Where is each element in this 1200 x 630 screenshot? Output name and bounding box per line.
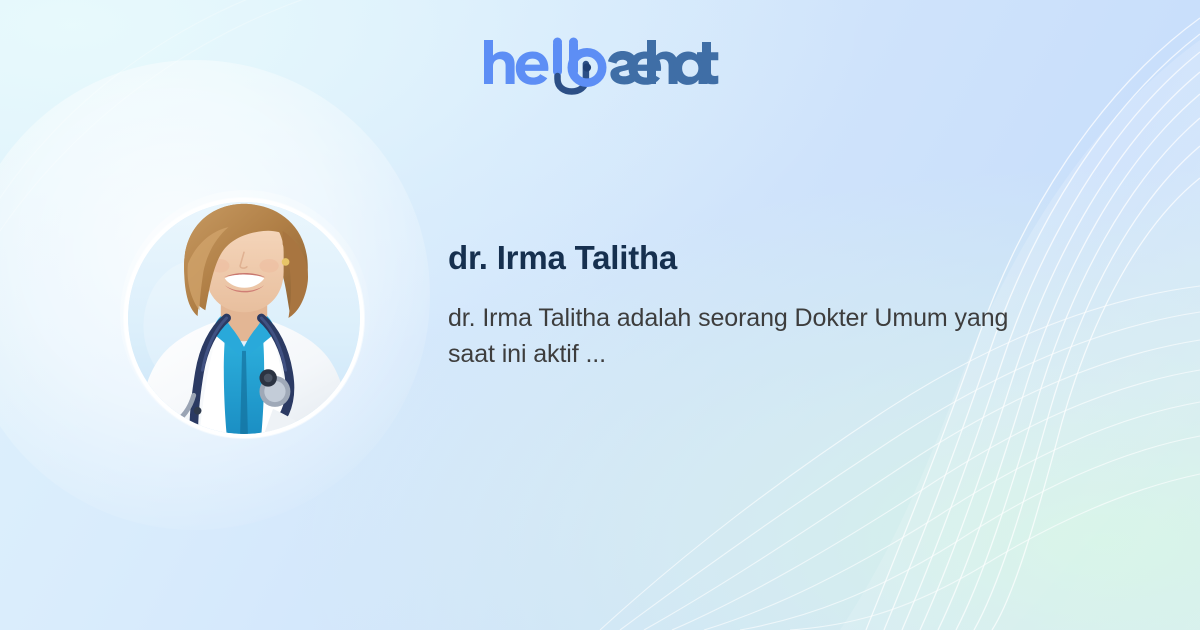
hellosehat-logo-icon [481, 36, 719, 98]
page-title: dr. Irma Talitha [448, 238, 1068, 278]
avatar [124, 198, 364, 438]
og-card: dr. Irma Talitha dr. Irma Talitha adalah… [0, 0, 1200, 630]
profile-text-block: dr. Irma Talitha dr. Irma Talitha adalah… [448, 238, 1068, 373]
avatar-photo [128, 202, 360, 434]
brand-logo[interactable] [0, 36, 1200, 98]
profile-description: dr. Irma Talitha adalah seorang Dokter U… [448, 300, 1028, 373]
